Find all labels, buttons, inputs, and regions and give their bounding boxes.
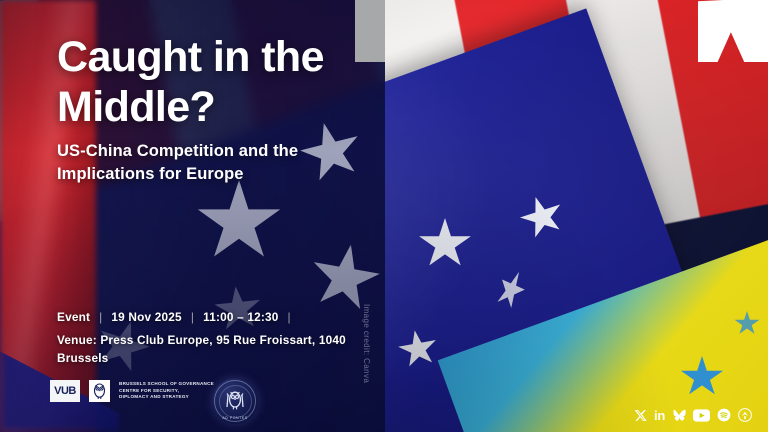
event-details: Event | 19 Nov 2025 | 11:00 – 12:30 | Ve… (57, 308, 377, 368)
vub-logo: VUB (50, 380, 80, 402)
youtube-icon[interactable] (693, 409, 710, 422)
bluesky-icon[interactable] (672, 409, 686, 422)
event-poster: Caught in the Middle? US-China Competiti… (0, 0, 768, 432)
event-detail-row: Event | 19 Nov 2025 | 11:00 – 12:30 | (57, 308, 377, 327)
linkedin-icon[interactable]: in (654, 409, 665, 422)
bsog-wordmark: BRUSSELS SCHOOL OF GOVERNANCE CENTRE FOR… (119, 381, 214, 401)
apple-podcasts-icon[interactable] (738, 408, 752, 422)
bsog-line-2: CENTRE FOR SECURITY, (119, 388, 214, 395)
bsog-line-3: DIPLOMACY AND STRATEGY (119, 394, 214, 401)
detail-separator: | (90, 308, 111, 327)
owl-icon (89, 380, 110, 402)
institutional-seal: AD PONTES (212, 378, 258, 424)
x-twitter-icon[interactable] (634, 409, 647, 422)
social-links[interactable]: in (634, 408, 752, 422)
event-label: Event (57, 308, 90, 327)
vub-logo-text: VUB (54, 385, 76, 397)
bsog-line-1: BRUSSELS SCHOOL OF GOVERNANCE (119, 381, 214, 388)
seal-motto: AD PONTES (212, 416, 258, 420)
page-subtitle: US-China Competition and the Implication… (57, 140, 367, 186)
seal-inner-ring (219, 385, 252, 418)
event-venue: Venue: Press Club Europe, 95 Rue Froissa… (57, 331, 377, 368)
spotify-icon[interactable] (717, 408, 731, 422)
detail-separator: | (182, 308, 203, 327)
page-title: Caught in the Middle? (57, 32, 367, 132)
partner-logo-lockup: VUB BRUSSELS SCHOOL OF GOVERNANCE CENTRE… (50, 380, 214, 402)
detail-separator: | (279, 308, 300, 327)
image-credit: Image credit: Canva (362, 304, 371, 383)
event-time: 11:00 – 12:30 (203, 308, 278, 327)
event-date: 19 Nov 2025 (111, 308, 181, 327)
